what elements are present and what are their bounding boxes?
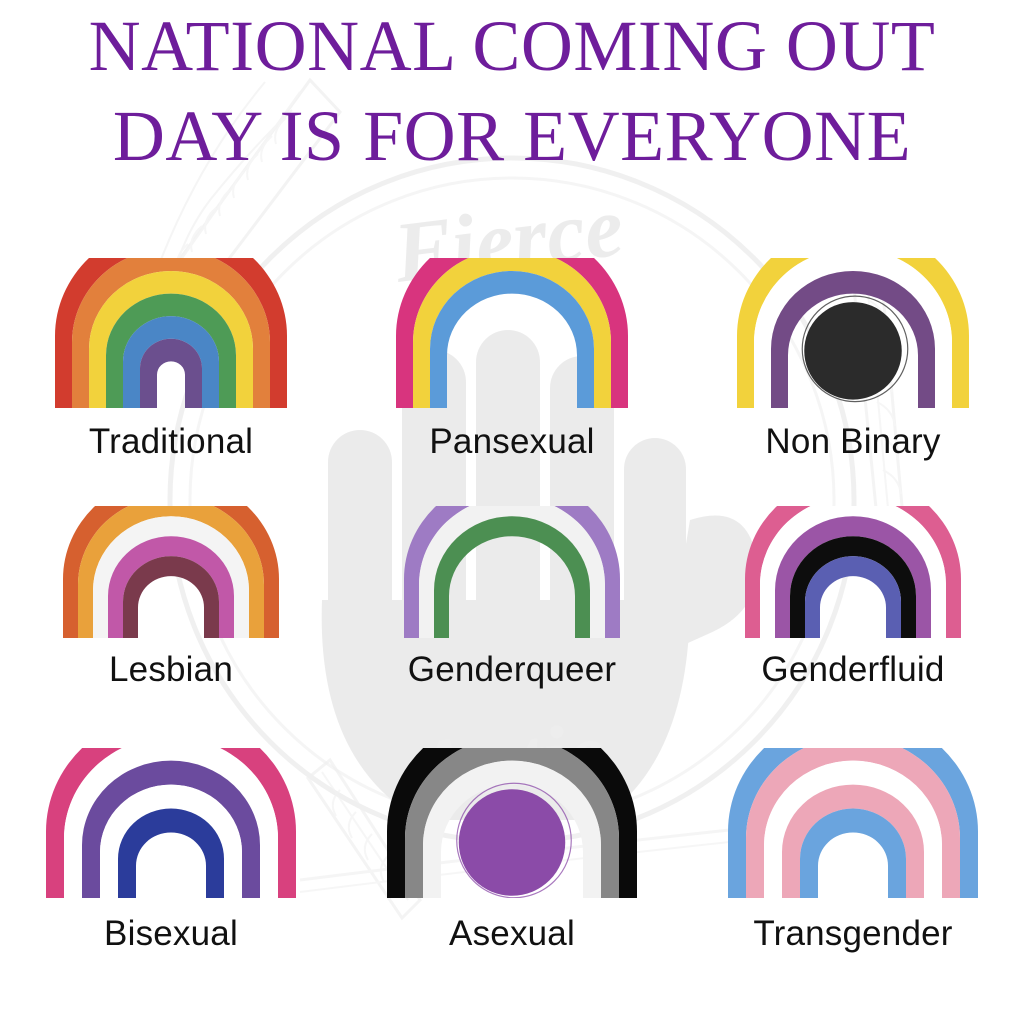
title-line-2: DAY IS FOR EVERYONE <box>0 88 1024 178</box>
pride-flag-card-pansexual[interactable]: Pansexual <box>342 258 683 504</box>
rainbow-band-purple <box>140 339 202 408</box>
rainbow-traditional <box>55 258 287 408</box>
pride-flag-card-genderqueer[interactable]: Genderqueer <box>342 506 683 748</box>
rainbow-graphic-pansexual <box>396 258 628 408</box>
rainbow-graphic-asexual <box>387 748 637 898</box>
pride-flag-card-lesbian[interactable]: Lesbian <box>1 506 342 748</box>
rainbow-row: BisexualAsexualTransgender <box>0 748 1024 1024</box>
rainbow-genderfluid <box>745 506 961 638</box>
rainbow-graphic-bisexual <box>46 748 296 898</box>
rainbow-graphic-genderfluid <box>745 506 961 638</box>
rainbow-label-genderfluid: Genderfluid <box>761 650 944 690</box>
pride-flag-card-bisexual[interactable]: Bisexual <box>1 748 342 1024</box>
pride-flag-card-asexual[interactable]: Asexual <box>342 748 683 1024</box>
rainbow-row: TraditionalPansexualNon Binary <box>0 258 1024 504</box>
poster-canvas: Fierce Autie NATIONAL COMING OUT DAY IS … <box>0 0 1024 1024</box>
purple-dot <box>459 789 566 896</box>
page-title: NATIONAL COMING OUT DAY IS FOR EVERYONE <box>0 0 1024 178</box>
rainbow-band-blue <box>123 316 219 408</box>
rainbow-label-genderqueer: Genderqueer <box>408 650 616 690</box>
rainbow-graphic-genderqueer <box>404 506 620 638</box>
rainbow-non-binary <box>737 258 969 408</box>
rainbow-genderqueer <box>404 506 620 638</box>
rainbow-label-lesbian: Lesbian <box>109 650 233 690</box>
rainbow-graphic-transgender <box>728 748 978 898</box>
rainbow-graphic-traditional <box>55 258 287 408</box>
black-dot <box>804 302 902 400</box>
rainbow-label-traditional: Traditional <box>89 422 253 462</box>
title-line-1: NATIONAL COMING OUT <box>0 0 1024 88</box>
rainbow-row: LesbianGenderqueerGenderfluid <box>0 506 1024 748</box>
rainbow-grid: TraditionalPansexualNon Binary LesbianGe… <box>0 258 1024 1024</box>
pride-flag-card-traditional[interactable]: Traditional <box>1 258 342 504</box>
rainbow-lesbian <box>63 506 279 638</box>
rainbow-transgender <box>728 748 978 898</box>
rainbow-pansexual <box>396 258 628 408</box>
rainbow-label-asexual: Asexual <box>449 914 575 954</box>
pride-flag-card-transgender[interactable]: Transgender <box>683 748 1024 1024</box>
rainbow-graphic-lesbian <box>63 506 279 638</box>
pride-flag-card-non-binary[interactable]: Non Binary <box>683 258 1024 504</box>
rainbow-label-transgender: Transgender <box>753 914 952 954</box>
rainbow-label-non-binary: Non Binary <box>765 422 940 462</box>
rainbow-bisexual <box>46 748 296 898</box>
rainbow-label-pansexual: Pansexual <box>429 422 594 462</box>
rainbow-label-bisexual: Bisexual <box>104 914 238 954</box>
rainbow-graphic-non-binary <box>737 258 969 408</box>
pride-flag-card-genderfluid[interactable]: Genderfluid <box>683 506 1024 748</box>
rainbow-asexual <box>387 748 637 898</box>
